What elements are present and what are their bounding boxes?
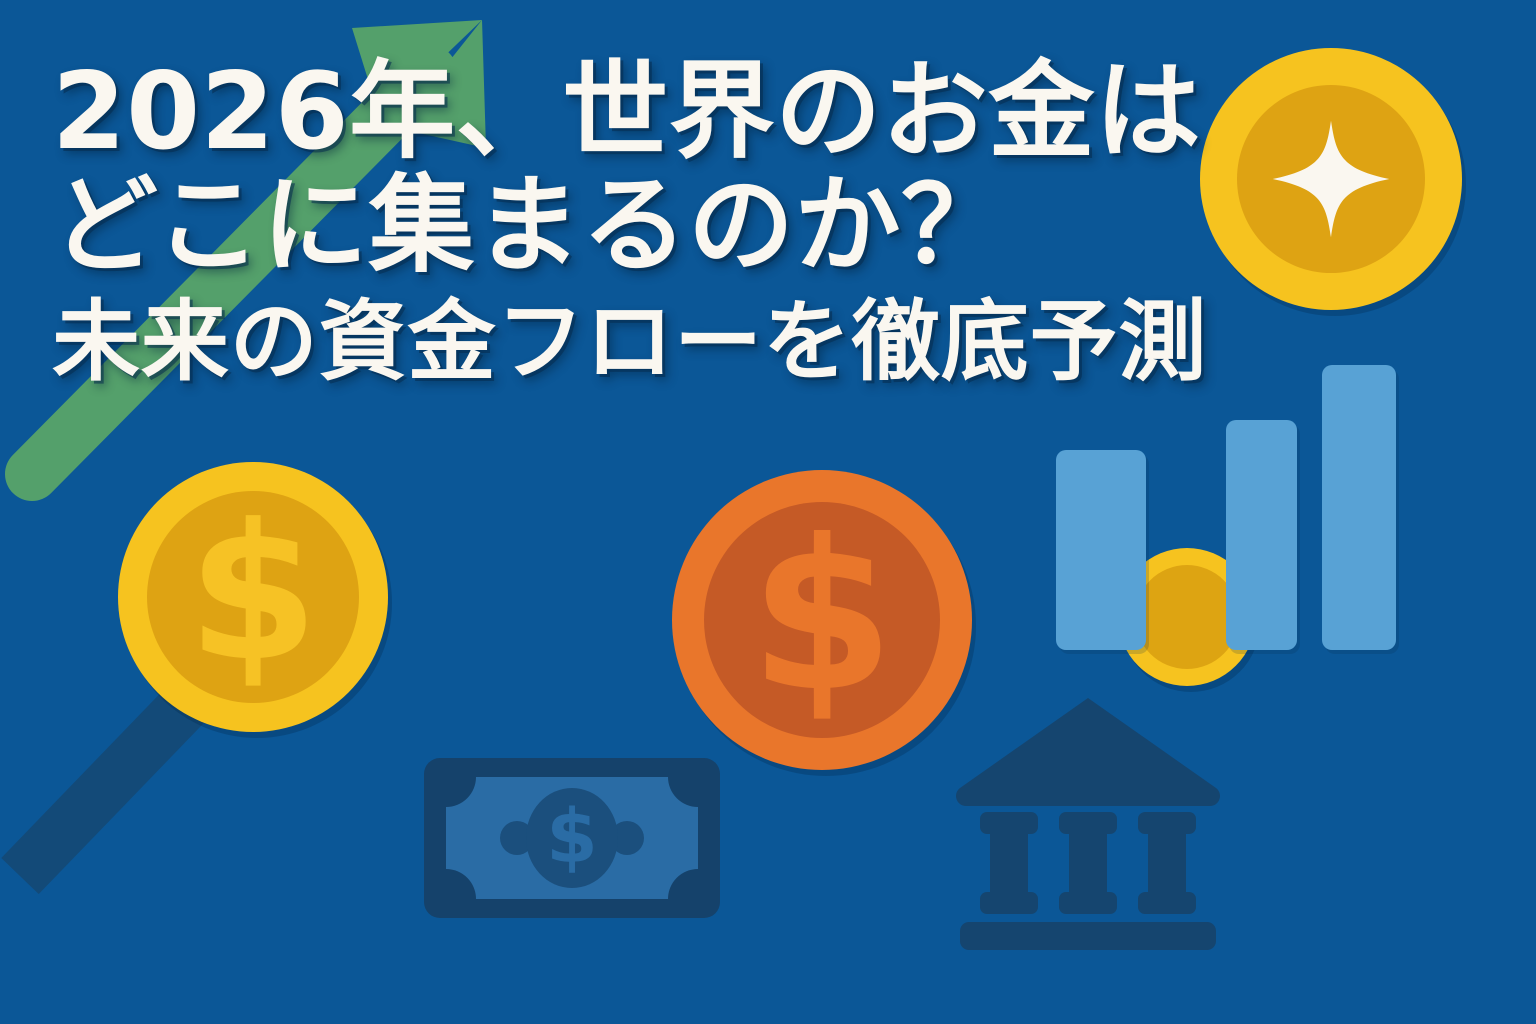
- bank-building-icon: [952, 692, 1224, 954]
- orange-dollar-coin-face: $: [704, 502, 940, 738]
- dollar-sign-glyph: $: [750, 513, 895, 721]
- dollar-sign-glyph: $: [546, 800, 598, 874]
- gold-dollar-coin: $: [118, 462, 388, 732]
- banknote-corner-bottom-left: [446, 869, 476, 899]
- bank-building: [952, 692, 1224, 954]
- thumbnail-canvas: $ $ $: [0, 0, 1536, 1024]
- banknote-corner-bottom-right: [668, 869, 698, 899]
- gold-dollar-coin-face: $: [147, 491, 359, 703]
- chart-bar-3: [1322, 365, 1396, 650]
- sparkle-icon: [1269, 117, 1393, 241]
- small-gold-coin-face: [1135, 565, 1239, 669]
- green-growth-arrow-svg: [0, 0, 520, 490]
- banknote-medallion: $: [526, 788, 618, 888]
- gold-sparkle-coin: [1200, 48, 1462, 310]
- chart-bar-2: [1226, 420, 1297, 650]
- gold-sparkle-coin-face: [1237, 85, 1425, 273]
- banknote-corner-top-right: [668, 777, 698, 807]
- orange-dollar-coin: $: [672, 470, 972, 770]
- dollar-banknote: $: [424, 758, 720, 918]
- chart-bar-1: [1056, 450, 1146, 650]
- green-growth-arrow: [0, 0, 520, 490]
- banknote-corner-top-left: [446, 777, 476, 807]
- banknote-face: $: [446, 777, 698, 899]
- dollar-sign-glyph: $: [188, 500, 319, 688]
